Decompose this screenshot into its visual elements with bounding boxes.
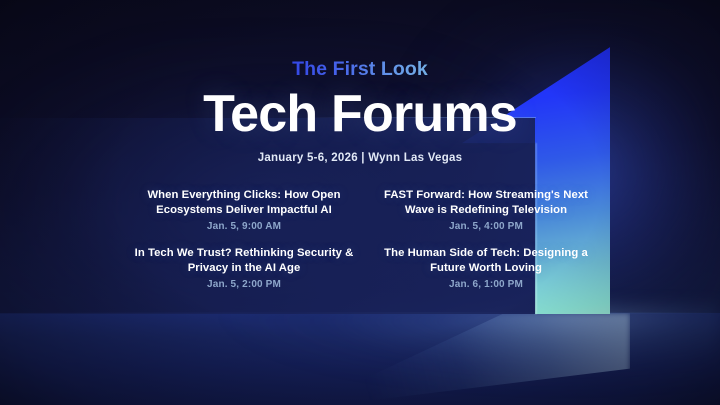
- session-title: When Everything Clicks: How Open Ecosyst…: [126, 188, 362, 218]
- session-item[interactable]: In Tech We Trust? Rethinking Security & …: [126, 246, 362, 290]
- session-item[interactable]: The Human Side of Tech: Designing a Futu…: [378, 246, 594, 290]
- session-item[interactable]: FAST Forward: How Streaming's Next Wave …: [378, 188, 594, 232]
- session-title: In Tech We Trust? Rethinking Security & …: [126, 246, 362, 276]
- session-item[interactable]: When Everything Clicks: How Open Ecosyst…: [126, 188, 362, 232]
- session-title: The Human Side of Tech: Designing a Futu…: [378, 246, 594, 276]
- session-title: FAST Forward: How Streaming's Next Wave …: [378, 188, 594, 218]
- content-layer: The First Look Tech Forums January 5-6, …: [0, 0, 720, 405]
- session-time: Jan. 6, 1:00 PM: [378, 279, 594, 290]
- event-date-venue: January 5-6, 2026 | Wynn Las Vegas: [258, 152, 463, 164]
- session-list: When Everything Clicks: How Open Ecosyst…: [126, 188, 594, 290]
- page-title: Tech Forums: [203, 87, 517, 141]
- event-eyebrow: The First Look: [292, 58, 428, 81]
- session-time: Jan. 5, 4:00 PM: [378, 221, 594, 232]
- tech-forums-promo-slide: The First Look Tech Forums January 5-6, …: [0, 0, 720, 405]
- session-time: Jan. 5, 2:00 PM: [126, 279, 362, 290]
- session-time: Jan. 5, 9:00 AM: [126, 221, 362, 232]
